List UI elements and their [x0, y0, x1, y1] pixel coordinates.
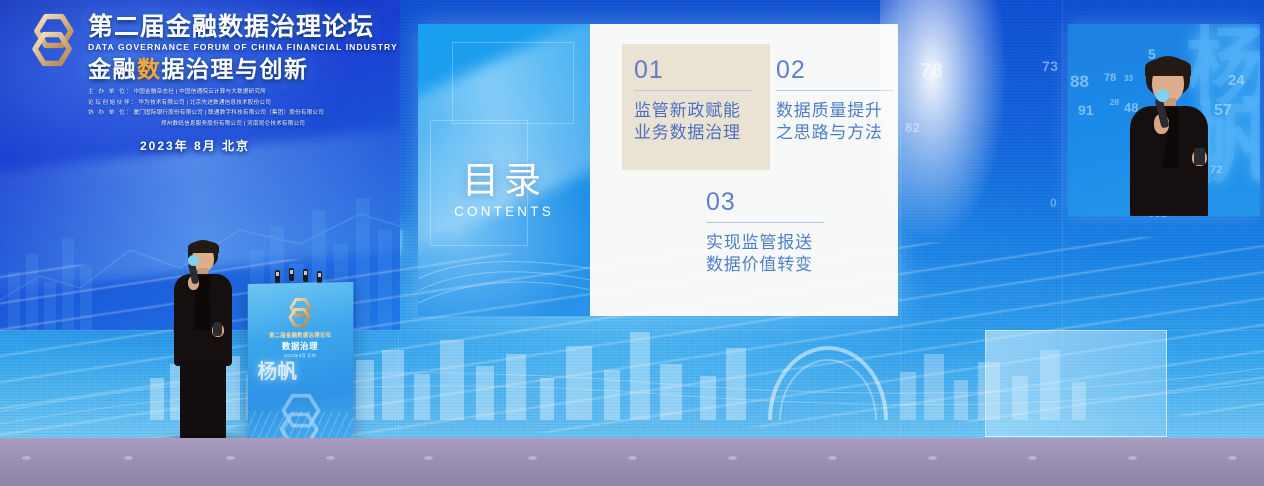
floor-marker — [828, 456, 837, 460]
floor-marker — [124, 456, 133, 460]
organizer-value: 华为技术有限公司 | 北京先进数通信息技术股份公司 — [138, 100, 271, 106]
speaker-hair-top — [1145, 58, 1191, 76]
floor-marker — [1128, 456, 1137, 460]
led-panel-seam — [900, 0, 901, 440]
forum-subtitle: 金融数据治理与创新 — [88, 57, 400, 81]
organizer-list: 主 办 单 位：中国金融杂志社 | 中国信通院云计算与大数据研究所 论坛创始伙伴… — [88, 87, 400, 130]
agenda-item-number: 03 — [706, 190, 846, 215]
slide-decor-box — [452, 42, 574, 124]
organizer-row: 协 办 单 位：厦门国际银行股份有限公司 | 联通数字科技有限公司（集团）股份有… — [88, 108, 400, 119]
organizer-label: 协 办 单 位： — [88, 110, 133, 116]
slide-contents-panel: 目录 CONTENTS — [418, 24, 590, 316]
backdrop-number: 73 — [1042, 58, 1059, 74]
organizer-label: 主 办 单 位： — [88, 89, 133, 95]
organizer-row: 郑州数码信息服务股份有限公司 | 河南昆仑技术有限公司 — [88, 119, 400, 130]
podium-microphone — [275, 270, 280, 283]
floor-marker — [528, 456, 537, 460]
agenda-item-01: 01 监管新政赋能 业务数据治理 — [634, 58, 774, 144]
clicker-remote — [1194, 148, 1205, 165]
floor-marker — [1028, 456, 1037, 460]
organizer-value: 郑州数码信息服务股份有限公司 | 河南昆仑技术有限公司 — [161, 121, 305, 127]
podium-date-line: 2023年8月 北京 — [248, 353, 354, 359]
floor-marker — [424, 456, 433, 460]
podium-microphone — [289, 268, 294, 281]
podium-subtitle-line: 数据治理 — [248, 340, 354, 353]
slide-toc-heading: 目录 CONTENTS — [418, 162, 590, 219]
subtitle-part-3: 据治理与创新 — [162, 56, 309, 82]
agenda-item-03: 03 实现监管报送 数据价值转变 — [706, 190, 846, 276]
speaker-live-feed: 杨帆 88 78 33 24 5 91 48 57 28 72 — [1068, 24, 1260, 216]
agenda-item-02: 02 数据质量提升 之思路与方法 — [776, 58, 898, 144]
forum-title-en: DATA GOVERNANCE FORUM OF CHINA FINANCIAL… — [88, 42, 400, 52]
feed-number: 88 — [1070, 72, 1089, 92]
toc-heading-en: CONTENTS — [418, 204, 590, 219]
feed-number: 91 — [1078, 102, 1094, 118]
backdrop-number: 0 — [1050, 196, 1057, 210]
stage-photo: 杨帆 819 6437 17 683 23 15 20 261 22 97 46… — [0, 0, 1264, 486]
speaker-closeup-figure — [1120, 56, 1216, 216]
feed-number: 28 — [1110, 98, 1119, 107]
floor-marker — [326, 456, 335, 460]
slide-items-panel: 01 监管新政赋能 业务数据治理 02 数据质量提升 之思路与方法 03 实现监… — [590, 24, 898, 316]
stage-glass-panel — [985, 330, 1167, 437]
podium-calligraphy: 杨帆 — [258, 363, 297, 381]
on-stage-speaker-figure — [160, 240, 244, 468]
agenda-item-rule — [706, 222, 824, 223]
banner-title-block: 第二届金融数据治理论坛 DATA GOVERNANCE FORUM OF CHI… — [88, 14, 400, 154]
agenda-item-rule — [776, 90, 894, 91]
agenda-item-text: 实现监管报送 数据价值转变 — [706, 232, 846, 276]
feed-number: 24 — [1228, 72, 1245, 89]
floor-marker — [928, 456, 937, 460]
organizer-row: 论坛创始伙伴：华为技术有限公司 | 北京先进数通信息技术股份公司 — [88, 98, 400, 109]
floor-marker — [628, 456, 637, 460]
floor-marker — [1228, 456, 1237, 460]
forum-hexagon-logo-icon — [26, 12, 80, 68]
subtitle-part-1: 金融 — [88, 56, 137, 82]
subtitle-highlight-char: 数 — [137, 56, 162, 82]
speaker-hair-top — [188, 241, 219, 253]
podium-forum-logo-icon — [285, 297, 315, 328]
event-date-location: 2023年 8月 北京 — [88, 137, 400, 154]
backdrop-number: 78 — [920, 60, 943, 83]
podium-microphone — [303, 269, 308, 282]
microphone-head — [188, 255, 199, 266]
presentation-slide: 目录 CONTENTS 01 监管新政赋能 业务数据治理 02 数据质量提升 之… — [418, 24, 898, 316]
podium-title-line: 第二届金融数据治理论坛 — [248, 330, 354, 339]
feed-number: 57 — [1214, 102, 1232, 120]
agenda-item-number: 01 — [634, 58, 774, 83]
agenda-item-rule — [634, 90, 752, 91]
floor-marker — [728, 456, 737, 460]
agenda-item-number: 02 — [776, 58, 898, 83]
forum-title-cn: 第二届金融数据治理论坛 — [88, 14, 400, 40]
stage-floor — [0, 438, 1264, 486]
organizer-value: 中国金融杂志社 | 中国信通院云计算与大数据研究所 — [133, 89, 266, 95]
agenda-item-text: 监管新政赋能 业务数据治理 — [634, 100, 774, 144]
agenda-item-text: 数据质量提升 之思路与方法 — [776, 100, 898, 144]
microphone-head — [1156, 89, 1169, 102]
organizer-label: 论坛创始伙伴： — [88, 100, 138, 106]
organizer-value: 厦门国际银行股份有限公司 | 联通数字科技有限公司（集团）股份有限公司 — [133, 110, 324, 116]
floor-marker — [22, 456, 31, 460]
floor-marker — [226, 456, 235, 460]
feed-number: 78 — [1104, 72, 1116, 84]
toc-heading-cn: 目录 — [418, 162, 590, 199]
organizer-row: 主 办 单 位：中国金融杂志社 | 中国信通院云计算与大数据研究所 — [88, 87, 400, 98]
backdrop-number: 82 — [905, 120, 920, 135]
clicker-remote — [213, 322, 222, 336]
